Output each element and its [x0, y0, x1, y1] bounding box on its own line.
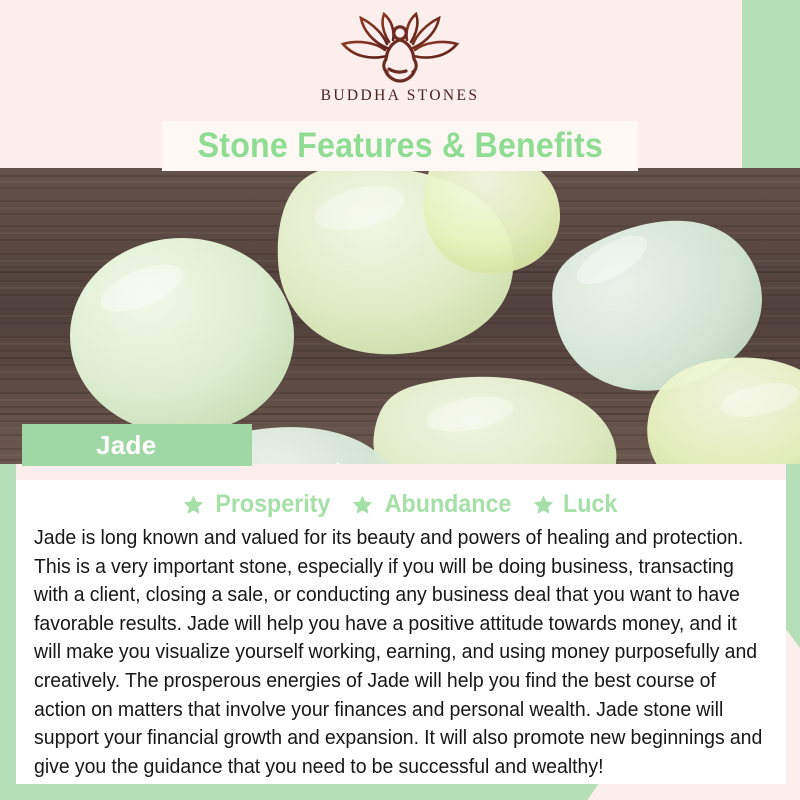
benefit-item: Luck — [533, 490, 619, 519]
stone-name-badge: Jade — [22, 424, 252, 466]
content-surface: Prosperity Abundance Luck Jade is long k… — [16, 480, 786, 784]
star-icon — [352, 494, 373, 515]
star-icon — [533, 494, 554, 515]
content-panel: Prosperity Abundance Luck Jade is long k… — [0, 464, 800, 800]
benefit-label: Abundance — [384, 490, 511, 519]
stone-info-card: BUDDHA STONES Stone Features & Benefits — [0, 0, 800, 800]
stone-description: Jade is long known and valued for its be… — [34, 524, 767, 781]
lotus-meditation-icon — [329, 12, 471, 86]
brand-logo: BUDDHA STONES — [0, 12, 800, 118]
benefit-label: Luck — [563, 490, 617, 519]
stone-photo — [0, 168, 800, 464]
benefits-row: Prosperity Abundance Luck — [16, 490, 786, 519]
benefit-label: Prosperity — [215, 490, 330, 519]
page-title: Stone Features & Benefits — [197, 126, 602, 166]
brand-name: BUDDHA STONES — [321, 87, 480, 105]
star-icon — [183, 494, 204, 515]
benefit-item: Abundance — [352, 490, 516, 519]
stone-name-label: Jade — [22, 430, 156, 461]
stone-photo-illustration — [0, 168, 800, 464]
benefit-item: Prosperity — [183, 490, 335, 519]
title-banner: Stone Features & Benefits — [162, 121, 638, 171]
content-top-spacer — [16, 464, 786, 480]
